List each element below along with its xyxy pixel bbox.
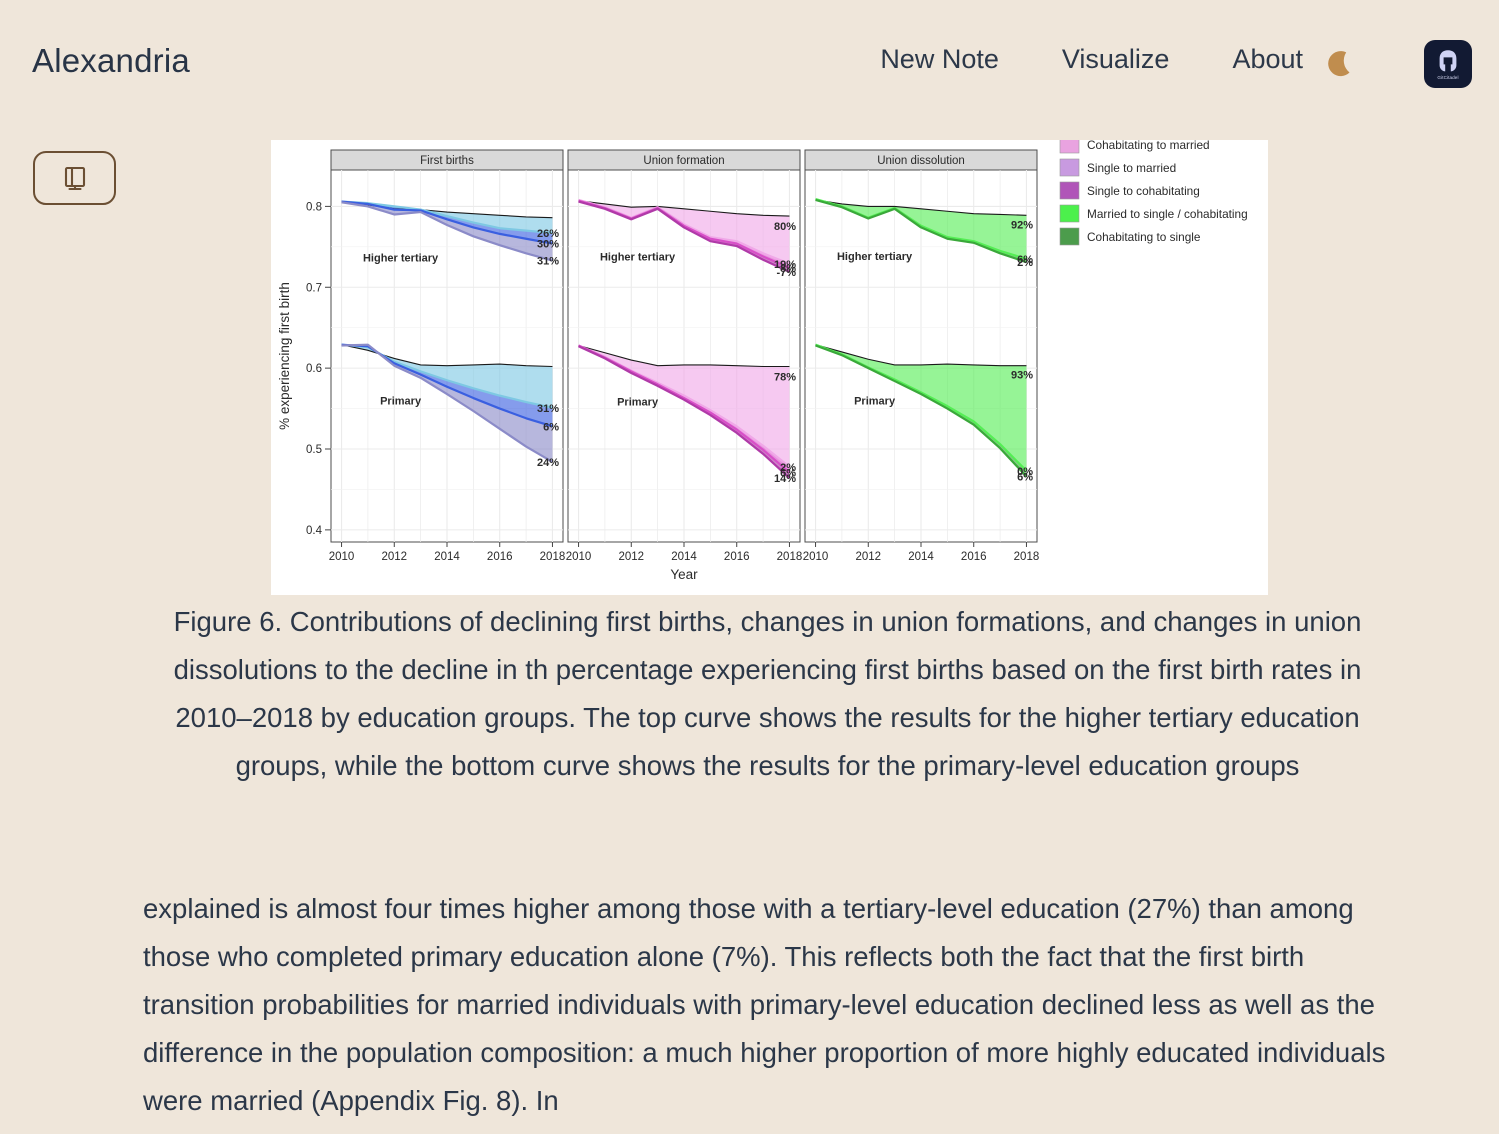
svg-text:2014: 2014 (908, 551, 934, 563)
svg-text:2018: 2018 (540, 551, 566, 563)
svg-text:Primary: Primary (380, 396, 422, 408)
svg-text:% experiencing first birth: % experiencing first birth (277, 282, 292, 430)
nav-about[interactable]: About (1232, 44, 1303, 75)
app-badge[interactable]: GitCitadel (1424, 40, 1472, 88)
figure-image: 0.40.50.60.70.8% experiencing first birt… (271, 140, 1268, 595)
svg-text:Primary: Primary (854, 396, 896, 408)
svg-text:92%: 92% (1011, 219, 1033, 231)
nav-new-note[interactable]: New Note (880, 44, 999, 75)
svg-text:Married to single / cohabitati: Married to single / cohabitating (1087, 207, 1248, 221)
svg-text:14%: 14% (774, 473, 796, 485)
svg-text:2016: 2016 (961, 551, 987, 563)
svg-text:Cohabitating to married: Cohabitating to married (1087, 140, 1210, 152)
figure-caption: Figure 6. Contributions of declining fir… (140, 598, 1395, 790)
svg-text:0.6: 0.6 (306, 363, 322, 375)
svg-text:2010: 2010 (329, 551, 355, 563)
gitcitadel-helmet-icon (1435, 48, 1461, 74)
svg-text:Union dissolution: Union dissolution (877, 155, 965, 167)
svg-text:31%: 31% (537, 256, 559, 268)
app-header: Alexandria New Note Visualize About GitC… (0, 0, 1499, 122)
svg-text:2010: 2010 (803, 551, 829, 563)
svg-text:78%: 78% (774, 372, 796, 384)
svg-text:Single to cohabitating: Single to cohabitating (1087, 184, 1200, 198)
app-badge-label: GitCitadel (1437, 75, 1458, 80)
svg-text:2012: 2012 (381, 551, 407, 563)
svg-text:80%: 80% (774, 221, 796, 233)
svg-text:30%: 30% (537, 239, 559, 251)
svg-text:0.5: 0.5 (306, 444, 322, 456)
svg-text:Higher tertiary: Higher tertiary (837, 251, 913, 263)
svg-text:6%: 6% (543, 421, 559, 433)
brand-title[interactable]: Alexandria (32, 42, 190, 80)
svg-text:2014: 2014 (434, 551, 460, 563)
svg-text:2016: 2016 (724, 551, 750, 563)
svg-text:Higher tertiary: Higher tertiary (600, 252, 676, 264)
svg-text:First births: First births (420, 155, 474, 167)
svg-text:2018: 2018 (777, 551, 803, 563)
svg-text:-7%: -7% (776, 267, 796, 279)
body-paragraph-clipped: particular, the share among women with p… (143, 1125, 1393, 1134)
svg-text:2018: 2018 (1014, 551, 1040, 563)
article-body: 0.40.50.60.70.8% experiencing first birt… (0, 122, 1499, 1134)
nav-visualize[interactable]: Visualize (1062, 44, 1170, 75)
svg-text:Cohabitating to single: Cohabitating to single (1087, 230, 1201, 244)
svg-text:0.7: 0.7 (306, 282, 322, 294)
svg-text:0.8: 0.8 (306, 201, 322, 213)
primary-nav: New Note Visualize About (880, 44, 1303, 75)
svg-text:Year: Year (670, 567, 698, 582)
svg-text:2014: 2014 (671, 551, 697, 563)
svg-text:31%: 31% (537, 403, 559, 415)
svg-text:2012: 2012 (618, 551, 644, 563)
svg-text:Single to married: Single to married (1087, 161, 1176, 175)
svg-text:6%: 6% (1017, 471, 1033, 483)
svg-text:2012: 2012 (855, 551, 881, 563)
svg-text:93%: 93% (1011, 370, 1033, 382)
svg-text:24%: 24% (537, 457, 559, 469)
theme-toggle-button[interactable] (1320, 42, 1362, 84)
body-paragraph: explained is almost four times higher am… (143, 885, 1393, 1125)
svg-text:Union formation: Union formation (643, 155, 724, 167)
svg-text:2010: 2010 (566, 551, 592, 563)
chart-svg: 0.40.50.60.70.8% experiencing first birt… (271, 140, 1268, 595)
svg-text:2016: 2016 (487, 551, 513, 563)
svg-text:Primary: Primary (617, 396, 659, 408)
svg-text:0.4: 0.4 (306, 525, 323, 537)
svg-text:2%: 2% (1017, 257, 1033, 269)
svg-text:Higher tertiary: Higher tertiary (363, 253, 439, 265)
moon-icon (1322, 44, 1360, 82)
